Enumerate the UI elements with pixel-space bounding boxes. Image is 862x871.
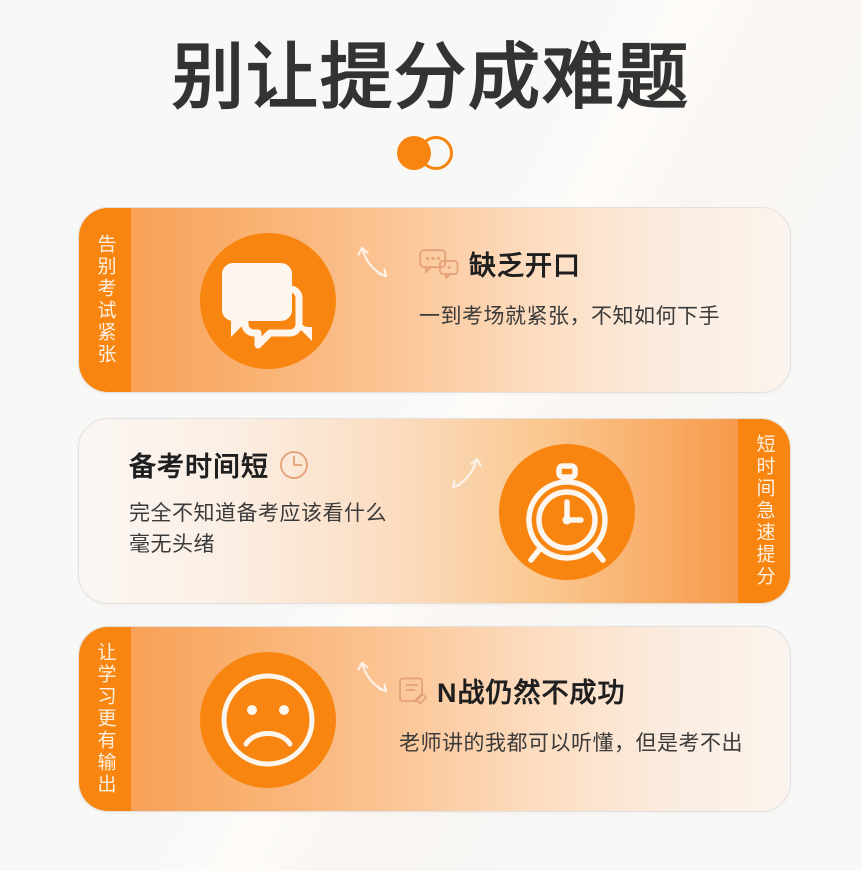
header: 别让提分成难题 (0, 34, 862, 170)
note-pencil-outline-icon (399, 676, 427, 706)
card-body: 备考时间短 完全不知道备考应该看什么 毫无头绪 (79, 419, 738, 603)
chat-bubbles-icon (200, 233, 336, 369)
card-text-block: N战仍然不成功 老师讲的我都可以听懂，但是考不出 (399, 671, 743, 759)
card-side-tab: 告别考试紧张 (79, 208, 131, 392)
card-heading: 备考时间短 (129, 445, 269, 484)
decorative-dot-pair (395, 136, 467, 170)
card-side-tab-label: 告别考试紧张 (94, 234, 117, 366)
card-body: N战仍然不成功 老师讲的我都可以听懂，但是考不出 (131, 627, 790, 811)
card-side-tab-label: 短时间急速提分 (753, 434, 776, 588)
curved-arrow-icon (353, 651, 395, 697)
card-heading: N战仍然不成功 (437, 671, 626, 710)
feature-card[interactable]: 备考时间短 完全不知道备考应该看什么 毫无头绪 短时间急速提分 (78, 418, 791, 604)
card-subtitle: 老师讲的我都可以听懂，但是考不出 (399, 728, 743, 759)
alarm-clock-icon (499, 444, 635, 580)
card-heading-row: N战仍然不成功 (399, 671, 743, 710)
card-text-block: 缺乏开口 一到考场就紧张，不知如何下手 (419, 244, 720, 332)
card-text-block: 备考时间短 完全不知道备考应该看什么 毫无头绪 (129, 445, 387, 560)
outlined-circle-icon (419, 136, 453, 170)
card-heading-row: 备考时间短 (129, 445, 387, 484)
card-side-tab: 让学习更有输出 (79, 627, 131, 811)
card-body: 缺乏开口 一到考场就紧张，不知如何下手 (131, 208, 790, 392)
page-title: 别让提分成难题 (0, 34, 862, 122)
curved-arrow-icon (444, 447, 486, 493)
card-side-tab-label: 让学习更有输出 (94, 642, 117, 796)
card-heading: 缺乏开口 (469, 244, 581, 283)
chat-bubbles-outline-icon (419, 249, 459, 279)
sad-face-icon (200, 652, 336, 788)
card-side-tab: 短时间急速提分 (738, 419, 790, 603)
card-subtitle: 完全不知道备考应该看什么 毫无头绪 (129, 498, 387, 560)
clock-outline-icon (279, 450, 309, 480)
feature-card[interactable]: 让学习更有输出 N战仍然不成功 (78, 626, 791, 812)
curved-arrow-icon (353, 236, 395, 282)
feature-card[interactable]: 告别考试紧张 (78, 207, 791, 393)
card-subtitle: 一到考场就紧张，不知如何下手 (419, 301, 720, 332)
card-heading-row: 缺乏开口 (419, 244, 720, 283)
